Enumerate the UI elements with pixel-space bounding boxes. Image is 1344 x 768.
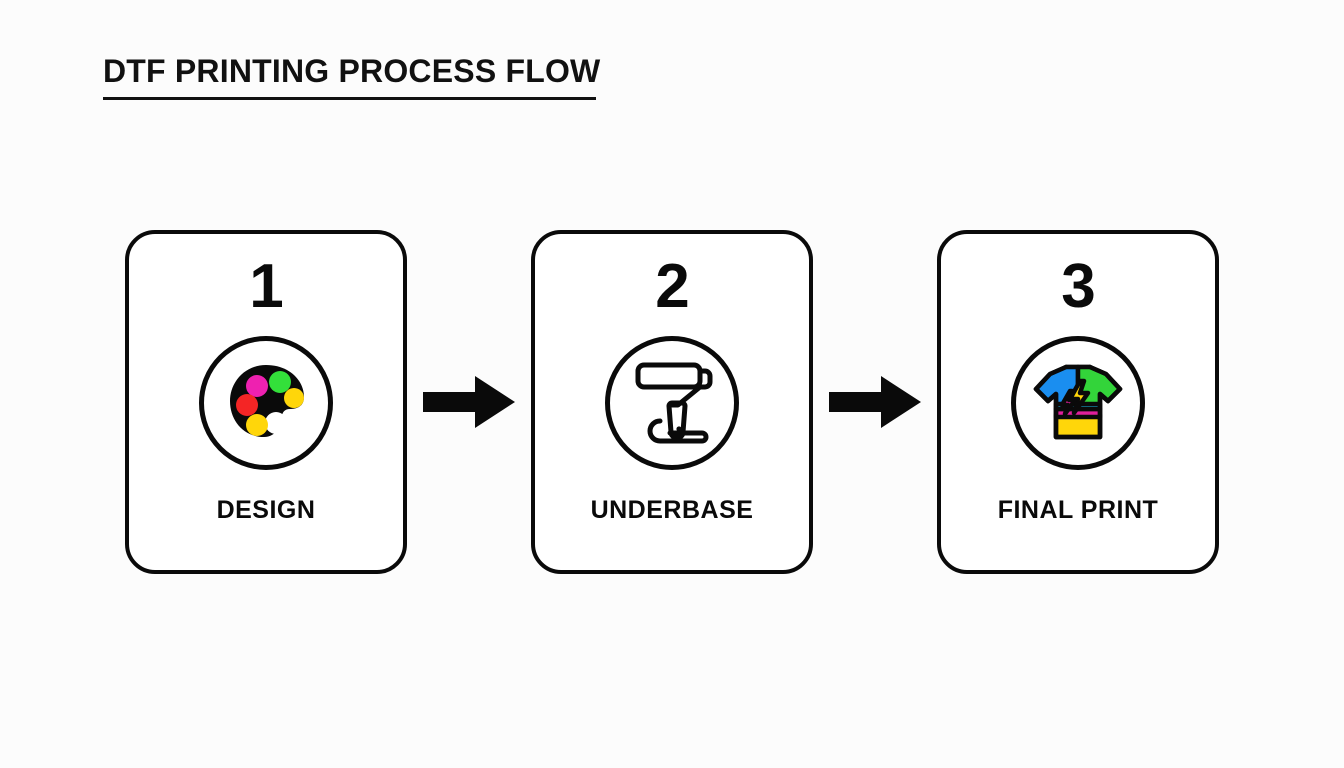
step-number: 2 xyxy=(655,256,688,318)
step-number: 3 xyxy=(1061,256,1094,318)
diagram-canvas: DTF PRINTING PROCESS FLOW 1 xyxy=(0,0,1344,768)
step-label: UNDERBASE xyxy=(591,496,754,525)
step-label: DESIGN xyxy=(217,496,316,525)
arrow-right-icon xyxy=(423,374,515,430)
printed-tshirt-icon xyxy=(1026,349,1130,458)
process-flow-row: 1 DESIGN xyxy=(0,228,1344,576)
step-card-underbase[interactable]: 2 xyxy=(531,230,813,574)
step-card-design[interactable]: 1 DESIGN xyxy=(125,230,407,574)
paint-palette-icon xyxy=(214,349,318,458)
step-label: FINAL PRINT xyxy=(998,496,1159,525)
title-block: DTF PRINTING PROCESS FLOW xyxy=(103,55,600,100)
paint-roller-icon xyxy=(620,349,724,458)
flow-connector-1 xyxy=(407,367,531,437)
page-title: DTF PRINTING PROCESS FLOW xyxy=(103,55,600,89)
arrow-right-icon xyxy=(829,374,921,430)
step-number: 1 xyxy=(249,256,282,318)
step-card-final-print[interactable]: 3 xyxy=(937,230,1219,574)
step-icon-circle xyxy=(1011,336,1145,470)
flow-connector-2 xyxy=(813,367,937,437)
step-icon-circle xyxy=(199,336,333,470)
step-icon-circle xyxy=(605,336,739,470)
title-underline xyxy=(103,97,596,100)
